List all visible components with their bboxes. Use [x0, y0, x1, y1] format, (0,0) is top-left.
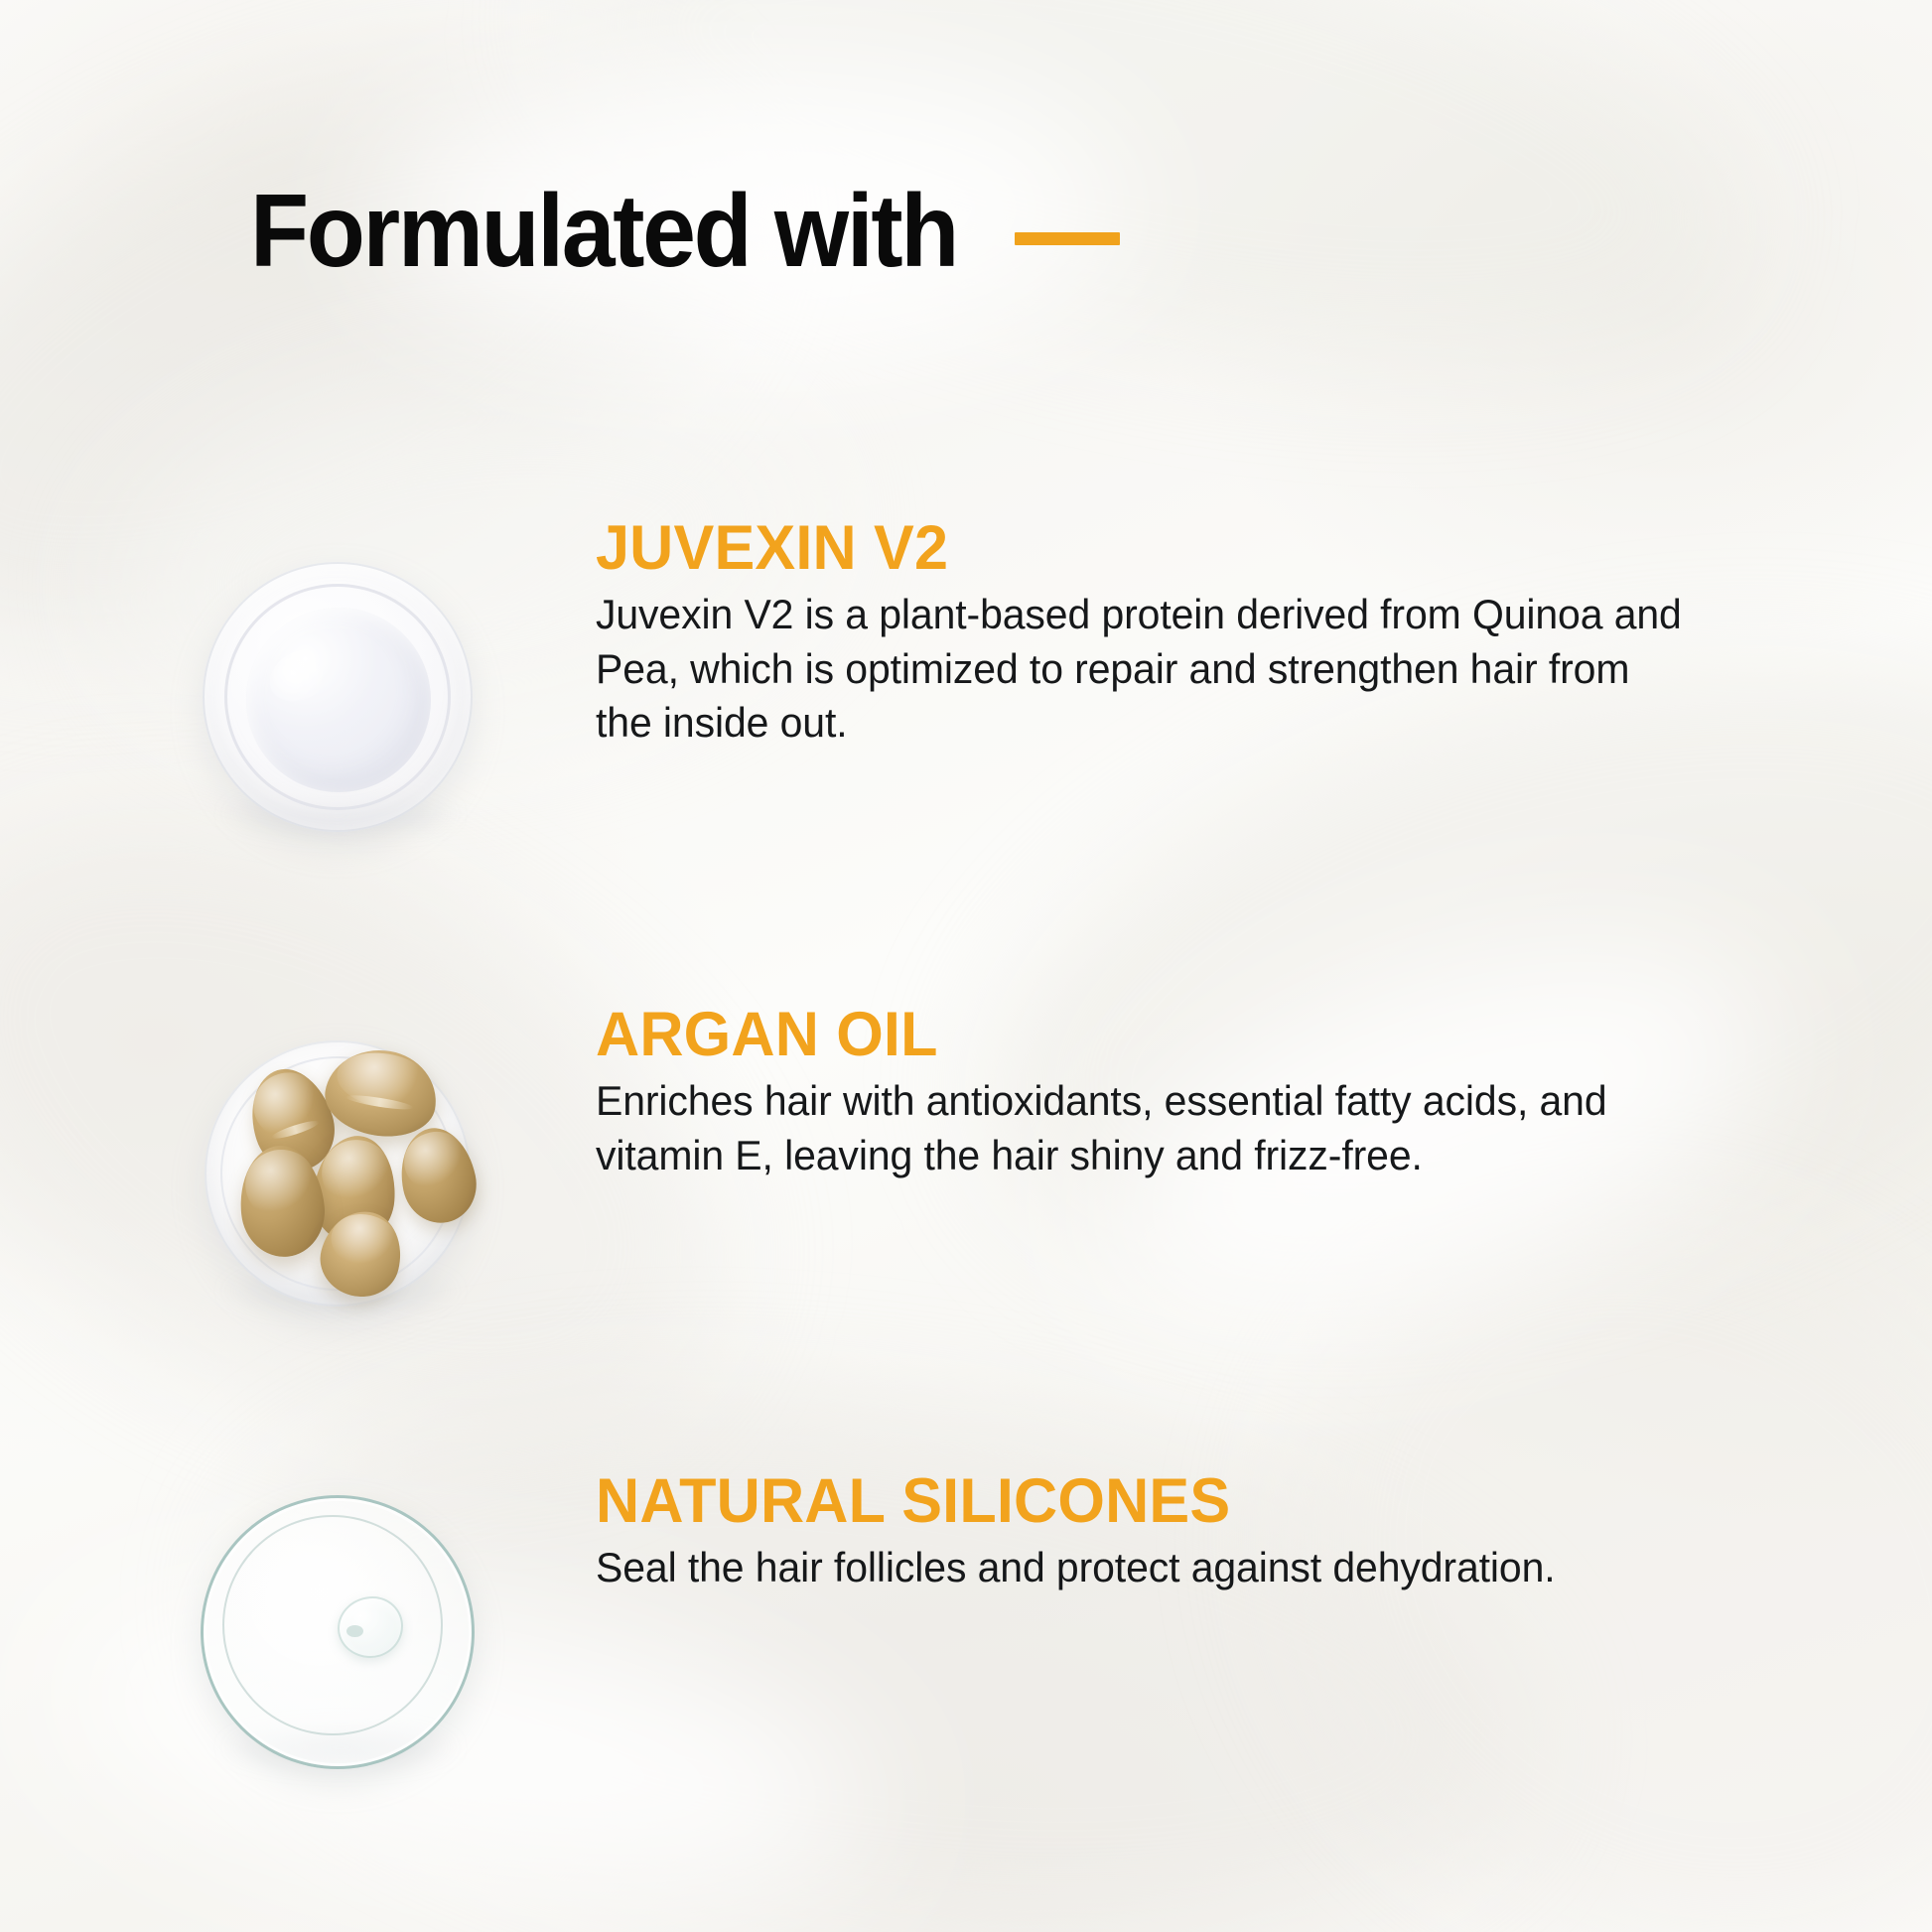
ingredient-description: Juvexin V2 is a plant-based protein deri… — [596, 588, 1690, 751]
ingredient-description: Enriches hair with antioxidants, essenti… — [596, 1074, 1690, 1182]
clear-gel — [246, 608, 431, 792]
orange-dash-accent — [1015, 232, 1120, 245]
ingredient-image-natural-silicones — [195, 1489, 492, 1787]
page-title-text: Formulated with — [250, 180, 957, 283]
ingredient-image-juvexin-v2 — [195, 556, 492, 854]
petri-dish-rim — [222, 1515, 443, 1735]
ingredient-copy: NATURAL SILICONES Seal the hair follicle… — [596, 1469, 1718, 1595]
ingredient-title: JUVEXIN V2 — [596, 516, 1684, 580]
ingredient-copy: ARGAN OIL Enriches hair with antioxidant… — [596, 1003, 1718, 1182]
ingredient-description: Seal the hair follicles and protect agai… — [596, 1541, 1690, 1595]
silicone-droplet — [338, 1596, 403, 1658]
ingredient-infographic: Formulated with JUVEXIN V2 Juvexin V2 is… — [0, 0, 1932, 1932]
page-title: Formulated with — [250, 180, 1120, 283]
ingredient-image-argan-oil — [195, 1033, 492, 1330]
ingredient-title: NATURAL SILICONES — [596, 1469, 1684, 1533]
ingredient-copy: JUVEXIN V2 Juvexin V2 is a plant-based p… — [596, 516, 1718, 751]
ingredient-title: ARGAN OIL — [596, 1003, 1684, 1066]
